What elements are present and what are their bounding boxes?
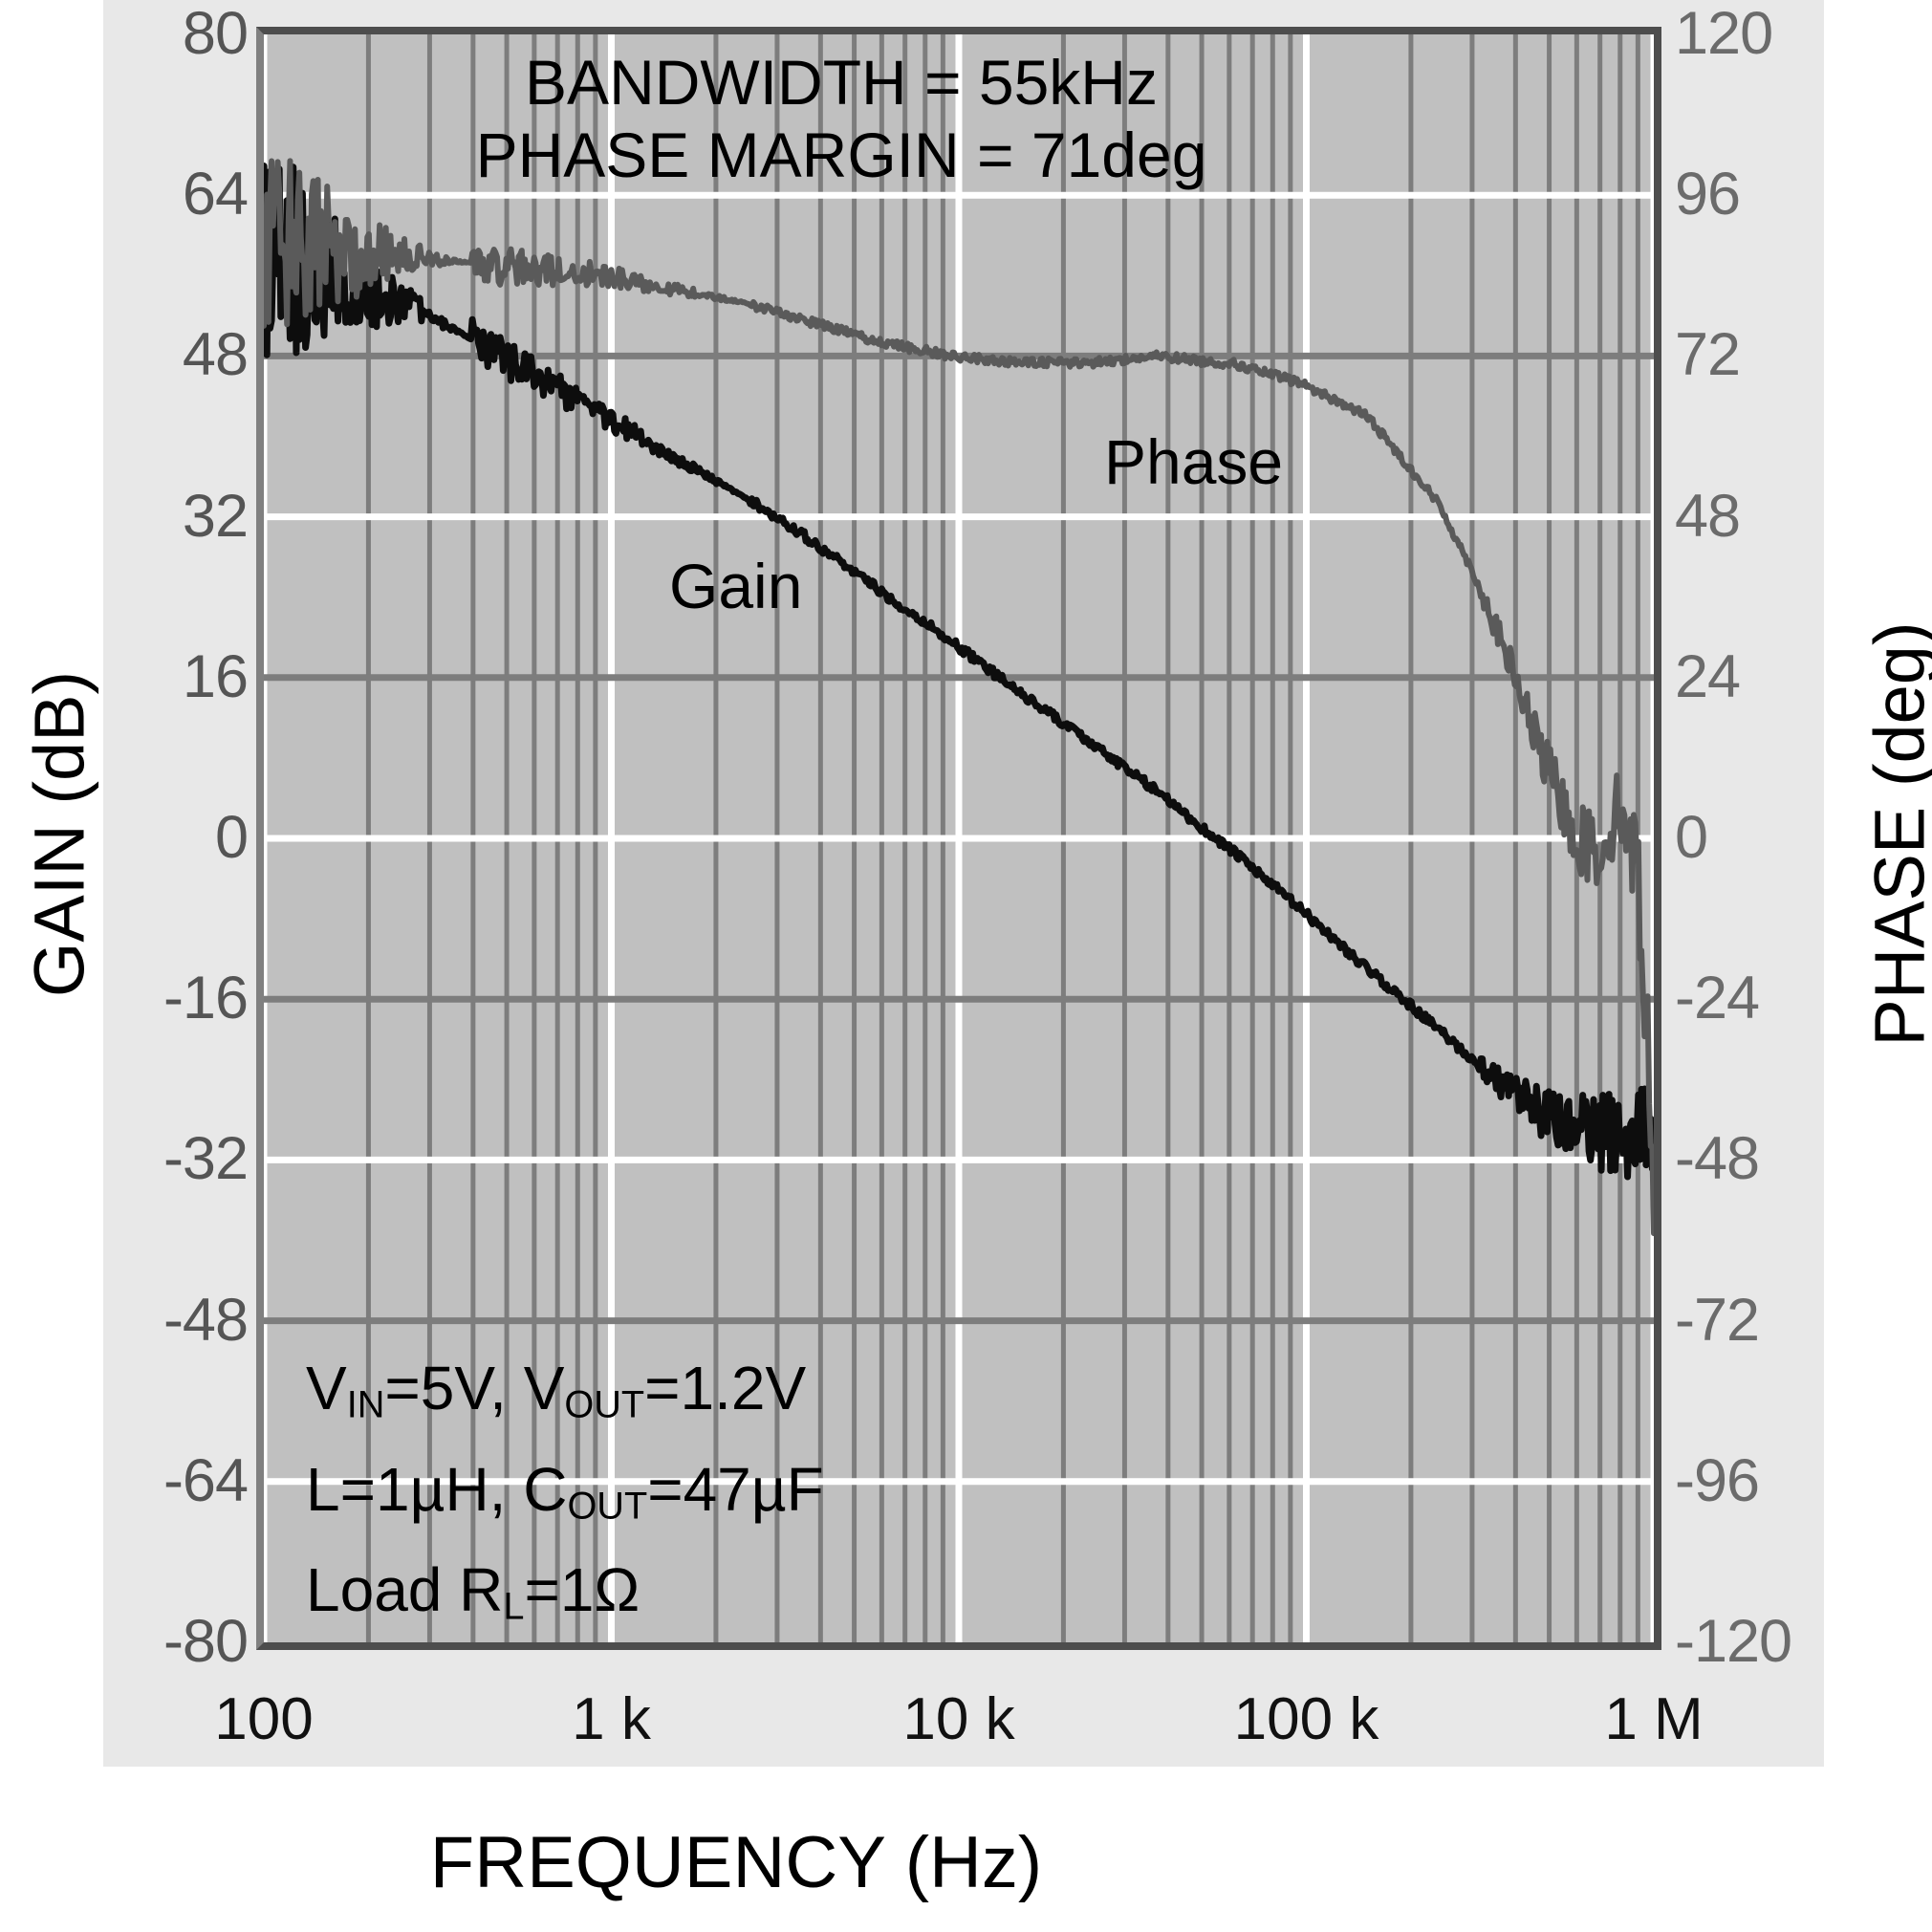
y-axis-right-tick-label: 0 (1675, 808, 1866, 868)
x-axis-tick-label: 10 k (815, 1690, 1102, 1749)
y-axis-right-tick-label: -24 (1675, 968, 1866, 1029)
y-axis-left-tick-label: -80 (76, 1612, 248, 1672)
y-axis-left-tick-label: 48 (76, 325, 248, 385)
vin-value: =5V, V (384, 1354, 564, 1422)
vout-subscript: OUT (564, 1384, 644, 1426)
y-axis-left-tick-label: -64 (76, 1451, 248, 1511)
y-axis-left-tick-label: 32 (76, 487, 248, 547)
vin-label: V (306, 1354, 347, 1422)
y-axis-right-tick-label: 72 (1675, 325, 1866, 385)
x-axis-title: FREQUENCY (Hz) (0, 1821, 1472, 1904)
gain-curve-label: Gain (669, 554, 802, 618)
annotation-bandwidth-phase-margin: BANDWIDTH = 55kHz PHASE MARGIN = 71deg (315, 46, 1367, 191)
y-axis-left-tick-label: -16 (76, 968, 248, 1029)
y-axis-left-title: GAIN (dB) (19, 538, 100, 1131)
vout-value: =1.2V (644, 1354, 806, 1422)
load-label: Load R (306, 1555, 503, 1624)
y-axis-left-tick-label: 80 (76, 4, 248, 64)
load-value: =1Ω (524, 1555, 640, 1624)
y-axis-left-tick-label: 16 (76, 647, 248, 707)
y-axis-right-tick-label: -96 (1675, 1451, 1866, 1511)
vin-subscript: IN (347, 1384, 385, 1426)
y-axis-right-tick-label: -72 (1675, 1291, 1866, 1351)
x-axis-tick-label: 100 k (1163, 1690, 1450, 1749)
phase-curve-label: Phase (1104, 430, 1283, 493)
y-axis-right-tick-label: -48 (1675, 1129, 1866, 1189)
y-axis-right-tick-label: 24 (1675, 647, 1866, 707)
y-axis-right-tick-label: 120 (1675, 4, 1866, 64)
cout-subscript: OUT (567, 1485, 647, 1527)
annotation-line-vin-vout: VIN=5V, VOUT=1.2V (306, 1346, 824, 1447)
y-axis-right-title: PHASE (deg) (1859, 529, 1932, 1140)
annotation-conditions: VIN=5V, VOUT=1.2V L=1µH, COUT=47µF Load … (306, 1346, 824, 1649)
y-axis-left-tick-label: 0 (76, 808, 248, 868)
inductance-label: L=1µH, C (306, 1455, 567, 1524)
y-axis-left-tick-label: -48 (76, 1291, 248, 1351)
y-axis-left-tick-label: -32 (76, 1129, 248, 1189)
y-axis-right-tick-label: -120 (1675, 1612, 1866, 1672)
y-axis-right-tick-label: 48 (1675, 487, 1866, 547)
x-axis-tick-label: 100 (120, 1690, 407, 1749)
cout-value: =47µF (647, 1455, 824, 1524)
load-subscript: L (503, 1586, 524, 1628)
y-axis-right-tick-label: 96 (1675, 164, 1866, 225)
annotation-line-load: Load RL=1Ω (306, 1548, 824, 1649)
x-axis-tick-label: 1 M (1510, 1690, 1797, 1749)
x-axis-tick-label: 1 k (468, 1690, 755, 1749)
chart-root: 80644832160-16-32-48-64-80 120967248240-… (0, 0, 1932, 1932)
y-axis-left-tick-label: 64 (76, 164, 248, 225)
annotation-line-l-cout: L=1µH, COUT=47µF (306, 1447, 824, 1549)
